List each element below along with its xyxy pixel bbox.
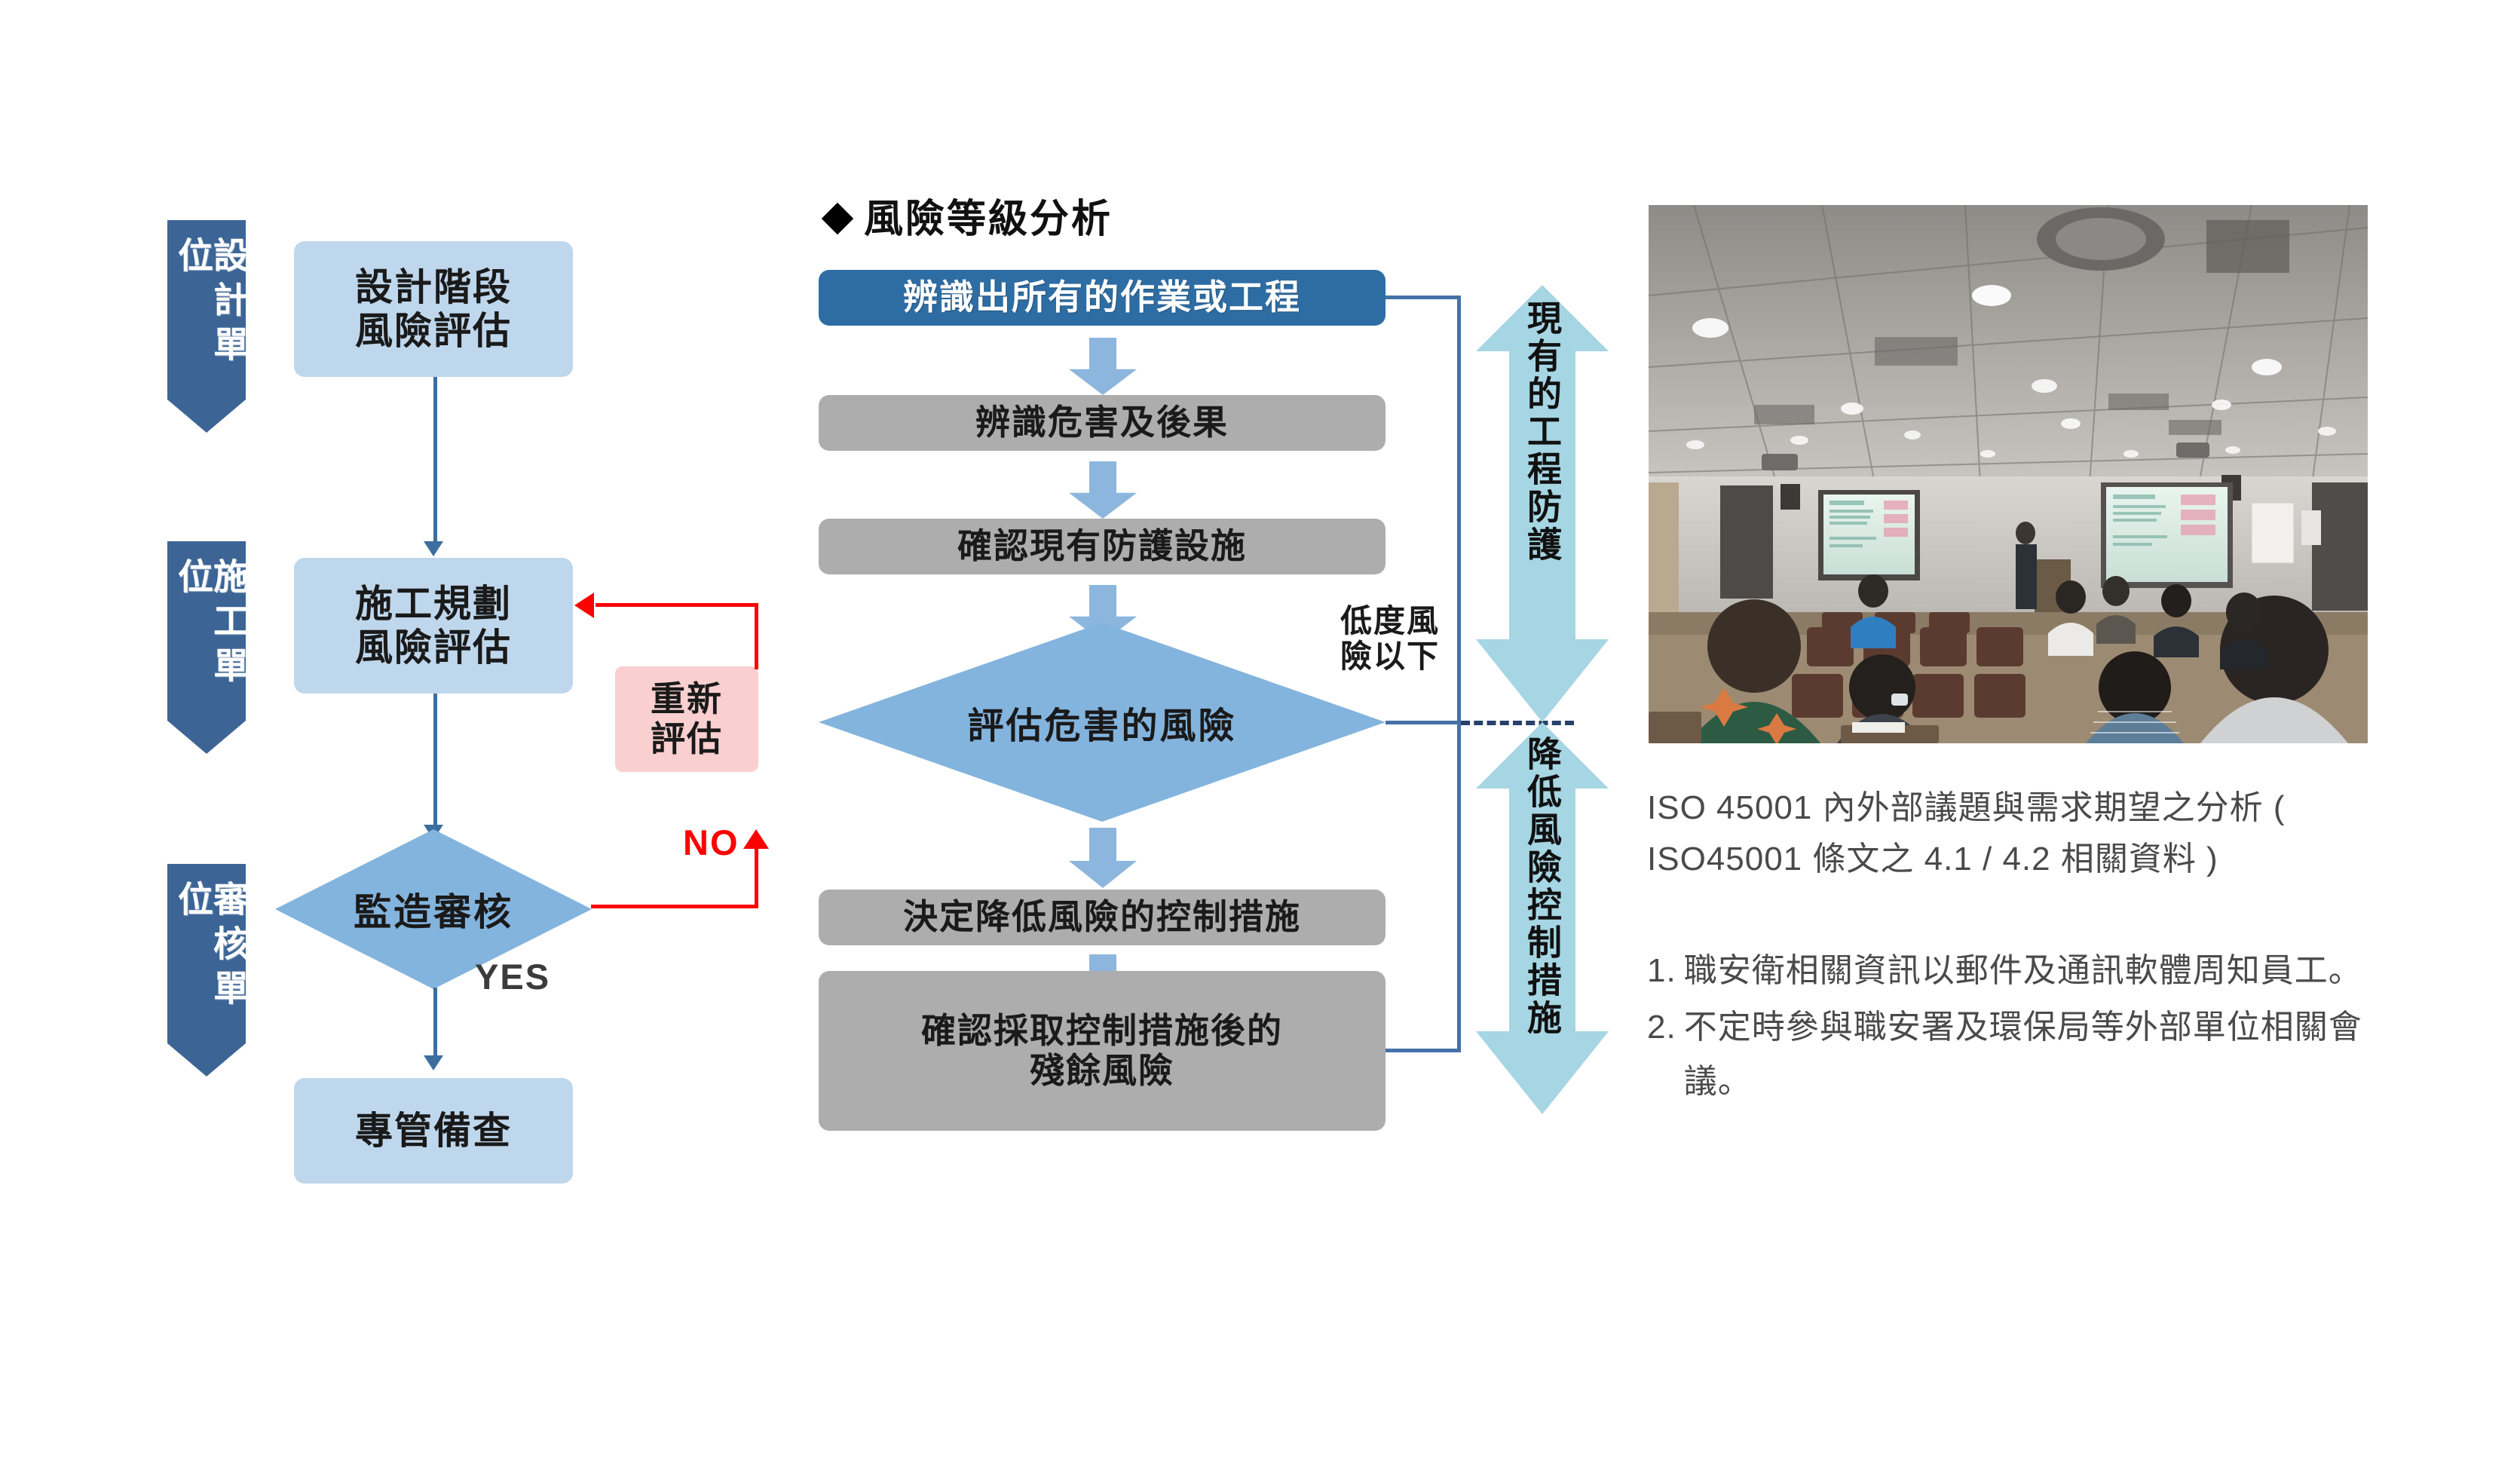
photo-illustration <box>1649 205 2368 743</box>
section-title: 風險等級分析 <box>826 187 1113 243</box>
step-decide-control-measures[interactable]: 決定降低風險的控制措施 <box>819 890 1386 945</box>
step-identify-all-works[interactable]: 辨識出所有的作業或工程 <box>819 270 1386 326</box>
node-label: 監造審核 <box>354 882 513 936</box>
section-title-text: 風險等級分析 <box>864 198 1113 241</box>
training-session-photo <box>1649 205 2368 743</box>
connector-arrowhead-icon <box>424 541 443 556</box>
node-label: 專管備查 <box>355 1109 512 1153</box>
reassess-path-segment <box>591 905 758 908</box>
connector-line <box>433 988 437 1061</box>
role-banner-design: 設計單位 <box>167 220 246 400</box>
reassess-path-segment <box>755 849 758 908</box>
connector-arrowhead-icon <box>424 1055 443 1070</box>
role-banner-construction-label: 施工單位 <box>175 558 246 721</box>
reassess-path-segment <box>755 603 758 669</box>
arrow-label-reduce-risk-wrap: 降低風險控制措施 <box>1476 736 1609 1113</box>
step-confirm-residual-risk[interactable]: 確認採取控制措施後的 殘餘風險 <box>819 971 1386 1131</box>
node-construction-plan-risk-assessment[interactable]: 施工規劃 風險評估 <box>294 558 573 694</box>
route-branch-segment <box>1386 721 1461 724</box>
route-segment <box>1386 296 1461 299</box>
banner-tip-icon <box>167 400 246 433</box>
flow-arrow-icon <box>1069 338 1137 395</box>
role-banner-review: 審核單位 <box>167 864 246 1043</box>
label-no: NO <box>683 822 739 863</box>
list-item-text: 不定時參與職安署及環保局等外部單位相關會議。 <box>1684 1000 2401 1108</box>
reassess-arrowhead-icon <box>574 593 594 618</box>
list-item: 1. 職安衛相關資訊以郵件及通訊軟體周知員工。 <box>1647 944 2401 997</box>
node-label: 施工規劃 風險評估 <box>355 582 512 669</box>
label-low-risk-branch: 低度風 險以下 <box>1340 603 1461 674</box>
list-item-text: 職安衛相關資訊以郵件及通訊軟體周知員工。 <box>1684 944 2401 997</box>
connector-line <box>433 377 437 546</box>
node-design-stage-risk-assessment[interactable]: 設計階段 風險評估 <box>294 241 573 377</box>
connector-line <box>433 694 437 829</box>
role-banner-review-label: 審核單位 <box>175 880 246 1043</box>
arrow-label-existing-protection-wrap: 現有的工程防護 <box>1476 300 1609 692</box>
step-label: 確認現有防護設施 <box>957 526 1247 566</box>
list-item: 2. 不定時參與職安署及環保局等外部單位相關會議。 <box>1647 1000 2401 1108</box>
step-label: 辨識危害及後果 <box>975 403 1229 443</box>
arrow-label-reduce-risk: 降低風險控制措施 <box>1525 736 1560 1037</box>
step-identify-hazards[interactable]: 辨識危害及後果 <box>819 395 1386 451</box>
list-item-number: 1. <box>1647 944 1676 997</box>
step-label: 評估危害的風險 <box>967 696 1236 749</box>
notes-list: 1. 職安衛相關資訊以郵件及通訊軟體周知員工。 2. 不定時參與職安署及環保局等… <box>1647 944 2401 1111</box>
role-banner-construction: 施工單位 <box>167 541 246 721</box>
banner-tip-icon <box>167 721 246 754</box>
label-yes: YES <box>475 956 550 997</box>
node-label: 設計階段 風險評估 <box>355 265 512 353</box>
route-segment <box>1386 1049 1461 1052</box>
node-pm-filing[interactable]: 專管備查 <box>294 1078 573 1184</box>
reassess-path-segment <box>596 603 758 607</box>
banner-tip-icon <box>167 1043 246 1076</box>
flow-arrow-icon <box>1069 828 1137 888</box>
step-label: 辨識出所有的作業或工程 <box>903 277 1301 317</box>
photo-caption: ISO 45001 內外部議題與需求期望之分析 ( ISO45001 條文之 4… <box>1647 782 2393 885</box>
step-assess-hazard-risk[interactable]: 評估危害的風險 <box>819 623 1386 822</box>
slide-canvas: 設計單位 施工單位 審核單位 設計階段 風險評估 施工規劃 風險評估 監造審核 <box>0 0 2520 1470</box>
diamond-bullet-icon <box>822 203 853 234</box>
step-label: 決定降低風險的控制措施 <box>903 897 1301 937</box>
role-banner-design-label: 設計單位 <box>175 237 246 400</box>
flow-arrow-icon <box>1069 461 1137 519</box>
arrow-label-existing-protection: 現有的工程防護 <box>1525 300 1560 564</box>
step-label: 確認採取控制措施後的 殘餘風險 <box>921 1011 1283 1092</box>
node-label: 重新 評估 <box>651 679 723 760</box>
list-item-number: 2. <box>1647 1000 1676 1108</box>
reassess-arrowhead-icon <box>743 829 769 849</box>
step-confirm-existing-protection[interactable]: 確認現有防護設施 <box>819 519 1386 574</box>
node-reassess[interactable]: 重新 評估 <box>615 666 758 772</box>
